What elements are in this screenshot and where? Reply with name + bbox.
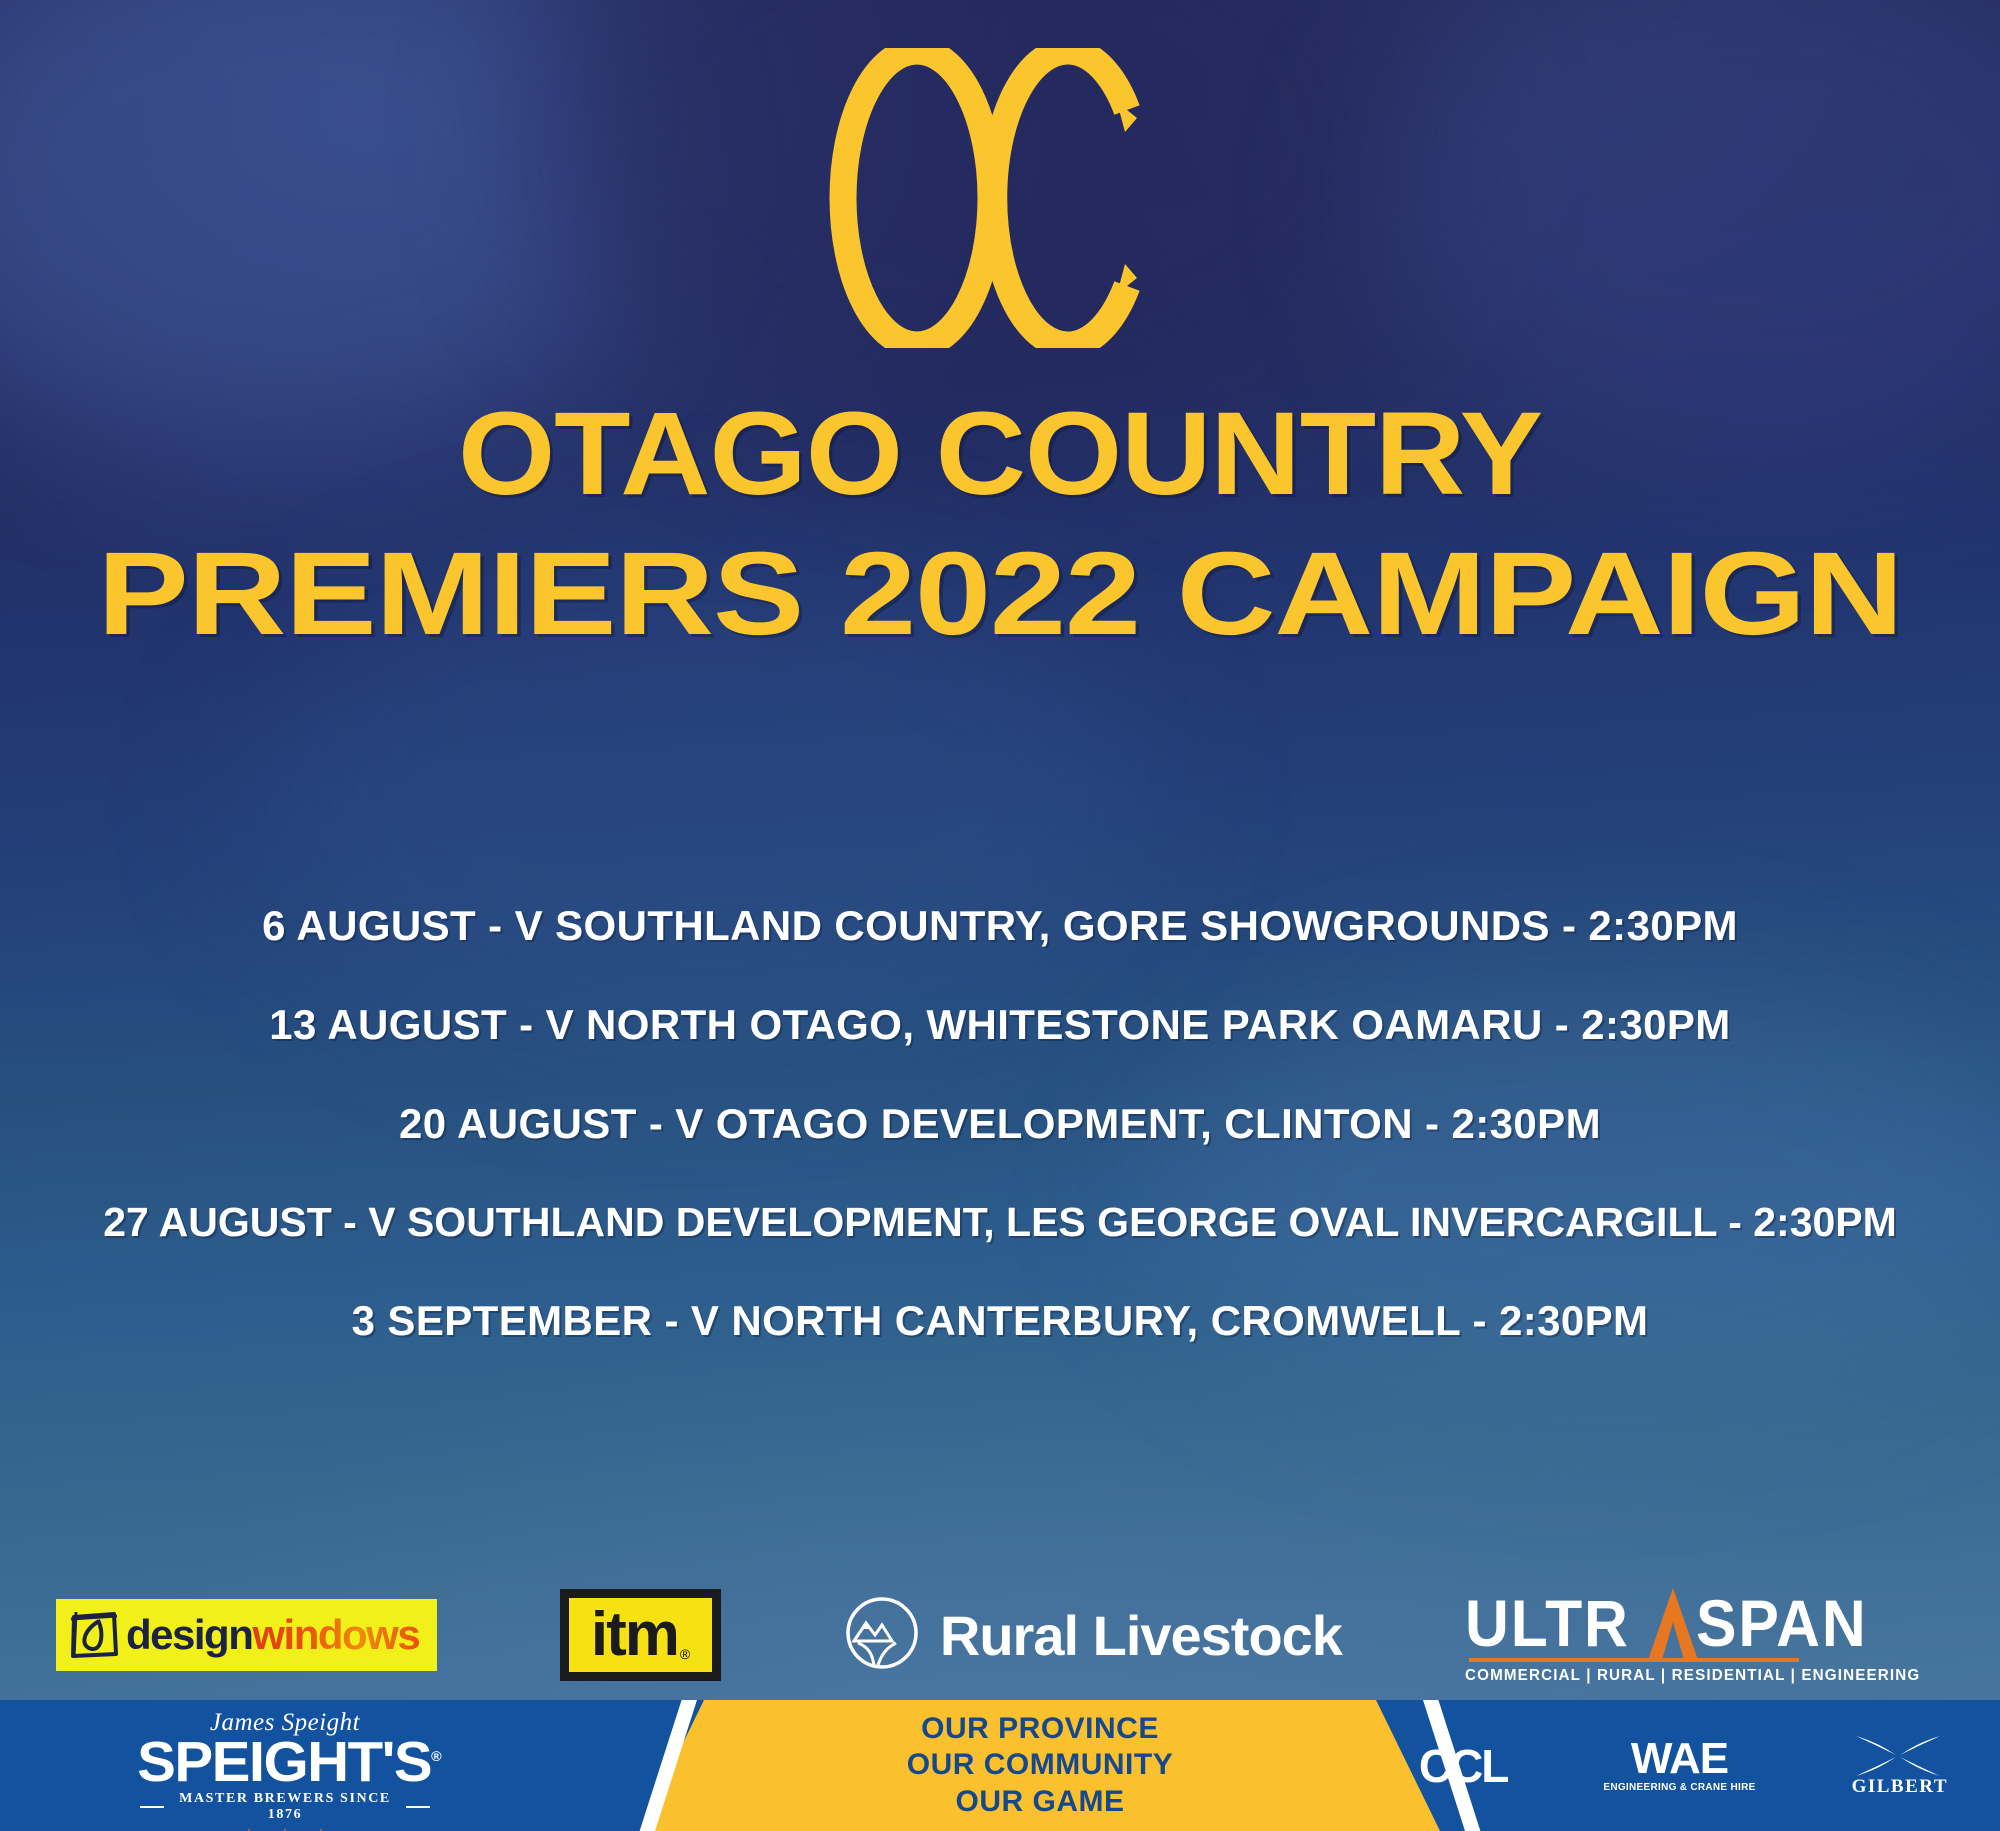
fixture-row-1: 6 AUGUST - V SOUTHLAND COUNTRY, GORE SHO… [0, 905, 2000, 947]
sponsor-gilbert[interactable]: GILBERT [1852, 1734, 1948, 1798]
design-windows-part-2: windows [252, 1611, 419, 1658]
oc-monogram-icon [765, 48, 1235, 348]
slogan-line-2: OUR COMMUNITY [907, 1747, 1173, 1784]
fixture-row-4: 27 AUGUST - V SOUTHLAND DEVELOPMENT, LES… [0, 1202, 2000, 1243]
sponsor-speights[interactable]: James Speight SPEIGHT'S® MASTER BREWERS … [140, 1710, 430, 1831]
wae-wordmark: WAE [1603, 1738, 1755, 1780]
slogan-block: OUR PROVINCE OUR COMMUNITY OUR GAME [640, 1700, 1440, 1831]
ultraspan-chevron-a-icon [1644, 1586, 1696, 1656]
sketch-square-icon [68, 1609, 120, 1661]
sponsor-wae[interactable]: WAE ENGINEERING & CRANE HIRE [1603, 1738, 1755, 1793]
registered-trademark-icon: ® [680, 1646, 690, 1662]
sponsor-logo-row: designwindows itm® [0, 1560, 2000, 1710]
speights-wordmark: SPEIGHT'S [137, 1730, 431, 1794]
sponsor-ccl[interactable]: CCL [1419, 1739, 1508, 1793]
gilbert-wordmark: GILBERT [1852, 1776, 1948, 1798]
fixture-row-3: 20 AUGUST - V OTAGO DEVELOPMENT, CLINTON… [0, 1103, 2000, 1145]
rule-left [140, 1806, 164, 1808]
ultraspan-part-2: SPAN [1696, 1590, 1868, 1656]
registered-trademark-icon: ® [431, 1748, 440, 1764]
poster-canvas: OTAGO COUNTRY PREMIERS 2022 CAMPAIGN 6 A… [0, 0, 2000, 1831]
fixture-row-5: 3 SEPTEMBER - V NORTH CANTERBURY, CROMWE… [0, 1300, 2000, 1342]
bottom-partner-bar: James Speight SPEIGHT'S® MASTER BREWERS … [0, 1700, 2000, 1831]
partner-logo-group: CCL WAE ENGINEERING & CRANE HIRE GILBERT [1419, 1700, 1948, 1831]
mountain-river-circle-icon [844, 1595, 920, 1676]
slogan-line-1: OUR PROVINCE [921, 1711, 1159, 1748]
sponsor-design-windows[interactable]: designwindows [56, 1599, 437, 1671]
gilbert-x-mark-icon [1852, 1734, 1948, 1778]
sponsor-ultraspan[interactable]: ULTR SPAN COMMERCIAL | RURAL | RESIDENTI… [1465, 1586, 1944, 1685]
slogan-line-3: OUR GAME [956, 1784, 1125, 1821]
ultraspan-part-1: ULTR [1465, 1590, 1630, 1656]
sponsor-rural-livestock[interactable]: Rural Livestock [844, 1595, 1342, 1676]
design-windows-part-1: design [126, 1611, 252, 1658]
ultraspan-tagline: COMMERCIAL | RURAL | RESIDENTIAL | ENGIN… [1465, 1667, 1920, 1685]
title-block: OTAGO COUNTRY PREMIERS 2022 CAMPAIGN [0, 395, 2000, 653]
rural-livestock-wordmark: Rural Livestock [940, 1603, 1342, 1668]
wae-tagline: ENGINEERING & CRANE HIRE [1603, 1782, 1755, 1793]
itm-wordmark: itm [591, 1608, 678, 1661]
page-title-line-2: PREMIERS 2022 CAMPAIGN [0, 535, 2000, 653]
fixture-list: 6 AUGUST - V SOUTHLAND COUNTRY, GORE SHO… [0, 905, 2000, 1399]
sponsor-itm[interactable]: itm® [560, 1589, 721, 1680]
speights-since: MASTER BREWERS SINCE 1876 [171, 1791, 400, 1823]
page-title-line-1: OTAGO COUNTRY [0, 395, 2000, 513]
fixture-row-2: 13 AUGUST - V NORTH OTAGO, WHITESTONE PA… [0, 1004, 2000, 1046]
logo-container [0, 48, 2000, 358]
rule-right [406, 1806, 430, 1808]
